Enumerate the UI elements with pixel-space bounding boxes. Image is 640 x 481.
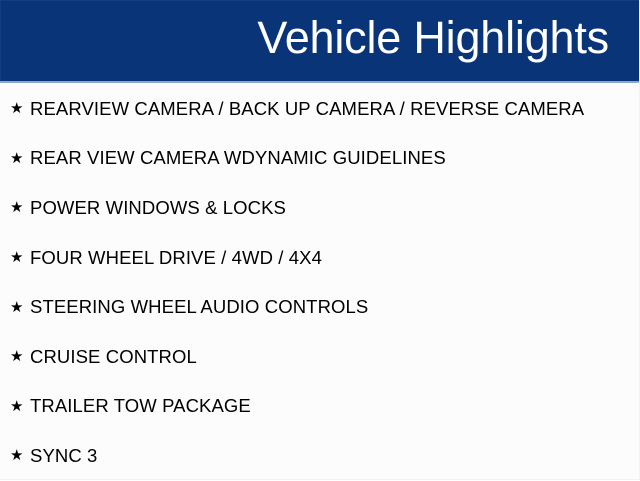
list-item: ★ STEERING WHEEL AUDIO CONTROLS <box>0 282 640 332</box>
star-bullet-icon: ★ <box>10 101 30 116</box>
page-title: Vehicle Highlights <box>257 8 609 68</box>
highlight-label: CRUISE CONTROL <box>30 346 197 368</box>
header-underline-divider <box>0 81 640 83</box>
list-item: ★ REAR VIEW CAMERA WDYNAMIC GUIDELINES <box>0 134 640 184</box>
list-item: ★ FOUR WHEEL DRIVE / 4WD / 4X4 <box>0 233 640 283</box>
list-item: ★ POWER WINDOWS & LOCKS <box>0 183 640 233</box>
star-bullet-icon: ★ <box>10 349 30 364</box>
highlight-label: STEERING WHEEL AUDIO CONTROLS <box>30 296 368 318</box>
highlight-label: TRAILER TOW PACKAGE <box>30 395 251 417</box>
star-bullet-icon: ★ <box>10 448 30 463</box>
star-bullet-icon: ★ <box>10 200 30 215</box>
list-item: ★ TRAILER TOW PACKAGE <box>0 382 640 432</box>
vehicle-highlights-slide: Vehicle Highlights ★ REARVIEW CAMERA / B… <box>0 0 640 480</box>
star-bullet-icon: ★ <box>10 300 30 315</box>
list-item: ★ SYNC 3 <box>0 431 640 481</box>
vehicle-highlights-list: ★ REARVIEW CAMERA / BACK UP CAMERA / REV… <box>0 84 640 481</box>
list-item: ★ REARVIEW CAMERA / BACK UP CAMERA / REV… <box>0 84 640 134</box>
star-bullet-icon: ★ <box>10 151 30 166</box>
star-bullet-icon: ★ <box>10 399 30 414</box>
highlight-label: POWER WINDOWS & LOCKS <box>30 197 286 219</box>
highlight-label: SYNC 3 <box>30 445 97 467</box>
highlight-label: REARVIEW CAMERA / BACK UP CAMERA / REVER… <box>30 98 584 120</box>
highlight-label: REAR VIEW CAMERA WDYNAMIC GUIDELINES <box>30 147 446 169</box>
header-banner: Vehicle Highlights <box>0 0 640 81</box>
star-bullet-icon: ★ <box>10 250 30 265</box>
list-item: ★ CRUISE CONTROL <box>0 332 640 382</box>
highlight-label: FOUR WHEEL DRIVE / 4WD / 4X4 <box>30 247 322 269</box>
